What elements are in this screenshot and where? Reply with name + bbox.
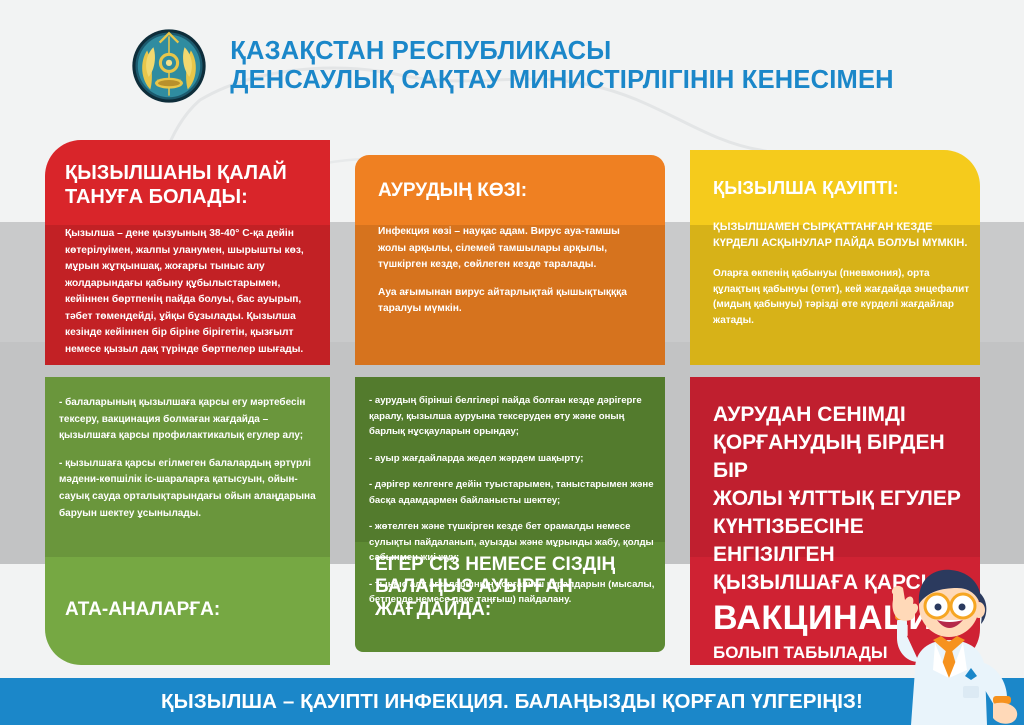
- kazakhstan-coat-of-arms-icon: [130, 27, 208, 105]
- header-title-block: ҚАЗАҚСТАН РЕСПУБЛИКАСЫ ДЕНСАУЛЫҚ САҚТАУ …: [230, 37, 894, 94]
- card-title-parents: АТА-АНАЛАРҒА:: [65, 599, 220, 621]
- header-title-line2: ДЕНСАУЛЫҚ САҚТАУ МИНИСТІРЛІГІНІН КЕНЕСІМ…: [230, 66, 894, 95]
- card-measles-danger: ҚЫЗЫЛША ҚАУІПТІ: ҚЫЗЫЛШАМЕН СЫРҚАТТАНҒАН…: [690, 150, 980, 365]
- vaccination-line-7: БОЛЫП ТАБЫЛАДЫ: [713, 642, 962, 665]
- vaccination-line-1: АУРУДАН СЕНІМДІ: [713, 401, 962, 429]
- vaccination-line-4: КҮНТІЗБЕСІНЕ ЕНГІЗІЛГЕН: [713, 513, 962, 569]
- poster-header: ҚАЗАҚСТАН РЕСПУБЛИКАСЫ ДЕНСАУЛЫҚ САҚТАУ …: [0, 0, 1024, 132]
- card-body-danger: ҚЫЗЫЛШАМЕН СЫРҚАТТАНҒАН КЕЗДЕ КҮРДЕЛІ АС…: [713, 219, 970, 329]
- vaccination-text-block: АУРУДАН СЕНІМДІ ҚОРҒАНУДЫҢ БІРДЕН БІР ЖО…: [713, 401, 962, 664]
- card-source-of-disease: АУРУДЫҢ КӨЗІ: Инфекция көзі – науқас ада…: [355, 155, 665, 365]
- card-body-source: Инфекция көзі – науқас адам. Вирус ауа-т…: [378, 224, 649, 318]
- vaccination-keyword: ВАКЦИНАЦИЯ: [713, 596, 962, 641]
- source-paragraph-2: Ауа ағымынан вирус айтарлықтай қышықтыққ…: [378, 285, 649, 318]
- if-ill-bullet-3: - дәрігер келгенге дейін туыстарымен, та…: [369, 477, 655, 508]
- footer-slogan: ҚЫЗЫЛША – ҚАУІПТІ ИНФЕКЦИЯ. БАЛАҢЫЗДЫ ҚО…: [161, 690, 863, 714]
- parents-bullet-2: - қызылшаға қарсы егілмеген балалардың ә…: [59, 456, 316, 522]
- vaccination-line-2: ҚОРҒАНУДЫҢ БІРДЕН БІР: [713, 429, 962, 485]
- card-body-parents: - балаларының қызылшаға қарсы егу мәртеб…: [59, 395, 316, 522]
- vaccination-line-5: ҚЫЗЫЛШАҒА ҚАРСЫ: [713, 569, 962, 597]
- card-for-parents: - балаларының қызылшаға қарсы егу мәртеб…: [45, 377, 330, 665]
- vaccination-line-3: ЖОЛЫ ҰЛТТЫҚ ЕГУЛЕР: [713, 485, 962, 513]
- card-title-recognize: ҚЫЗЫЛШАНЫ ҚАЛАЙ ТАНУҒА БОЛАДЫ:: [65, 162, 312, 209]
- source-paragraph-1: Инфекция көзі – науқас адам. Вирус ауа-т…: [378, 224, 649, 274]
- danger-detail-text: Оларға өкпенің қабынуы (пневмония), орта…: [713, 266, 970, 329]
- danger-strong-text: ҚЫЗЫЛШАМЕН СЫРҚАТТАНҒАН КЕЗДЕ КҮРДЕЛІ АС…: [713, 219, 970, 252]
- card-title-danger: ҚЫЗЫЛША ҚАУІПТІ:: [713, 177, 964, 199]
- card-vaccination-message: АУРУДАН СЕНІМДІ ҚОРҒАНУДЫҢ БІРДЕН БІР ЖО…: [690, 377, 980, 665]
- footer-banner: ҚЫЗЫЛША – ҚАУІПТІ ИНФЕКЦИЯ. БАЛАҢЫЗДЫ ҚО…: [0, 678, 1024, 725]
- if-ill-bullet-2: - ауыр жағдайларда жедел жәрдем шақырту;: [369, 451, 655, 467]
- card-how-to-recognize: ҚЫЗЫЛШАНЫ ҚАЛАЙ ТАНУҒА БОЛАДЫ: Қызылша –…: [45, 140, 330, 365]
- parents-bullet-1: - балаларының қызылшаға қарсы егу мәртеб…: [59, 395, 316, 445]
- infographic-poster: ҚАЗАҚСТАН РЕСПУБЛИКАСЫ ДЕНСАУЛЫҚ САҚТАУ …: [0, 0, 1024, 725]
- card-body-recognize: Қызылша – дене қызуының 38-40° С-қа дейі…: [65, 226, 316, 358]
- cards-grid: ҚЫЗЫЛШАНЫ ҚАЛАЙ ТАНУҒА БОЛАДЫ: Қызылша –…: [45, 140, 980, 665]
- header-title-line1: ҚАЗАҚСТАН РЕСПУБЛИКАСЫ: [230, 37, 894, 66]
- card-if-you-or-child-ill: - аурудың бірінші белгілері пайда болған…: [355, 377, 665, 652]
- card-title-source: АУРУДЫҢ КӨЗІ:: [378, 180, 647, 202]
- if-ill-bullet-1: - аурудың бірінші белгілері пайда болған…: [369, 393, 655, 440]
- card-title-if-ill: ЕГЕР СІЗ НЕМЕСЕ СІЗДІҢ БАЛАҢЫЗ АУЫРҒАН Ж…: [375, 554, 665, 622]
